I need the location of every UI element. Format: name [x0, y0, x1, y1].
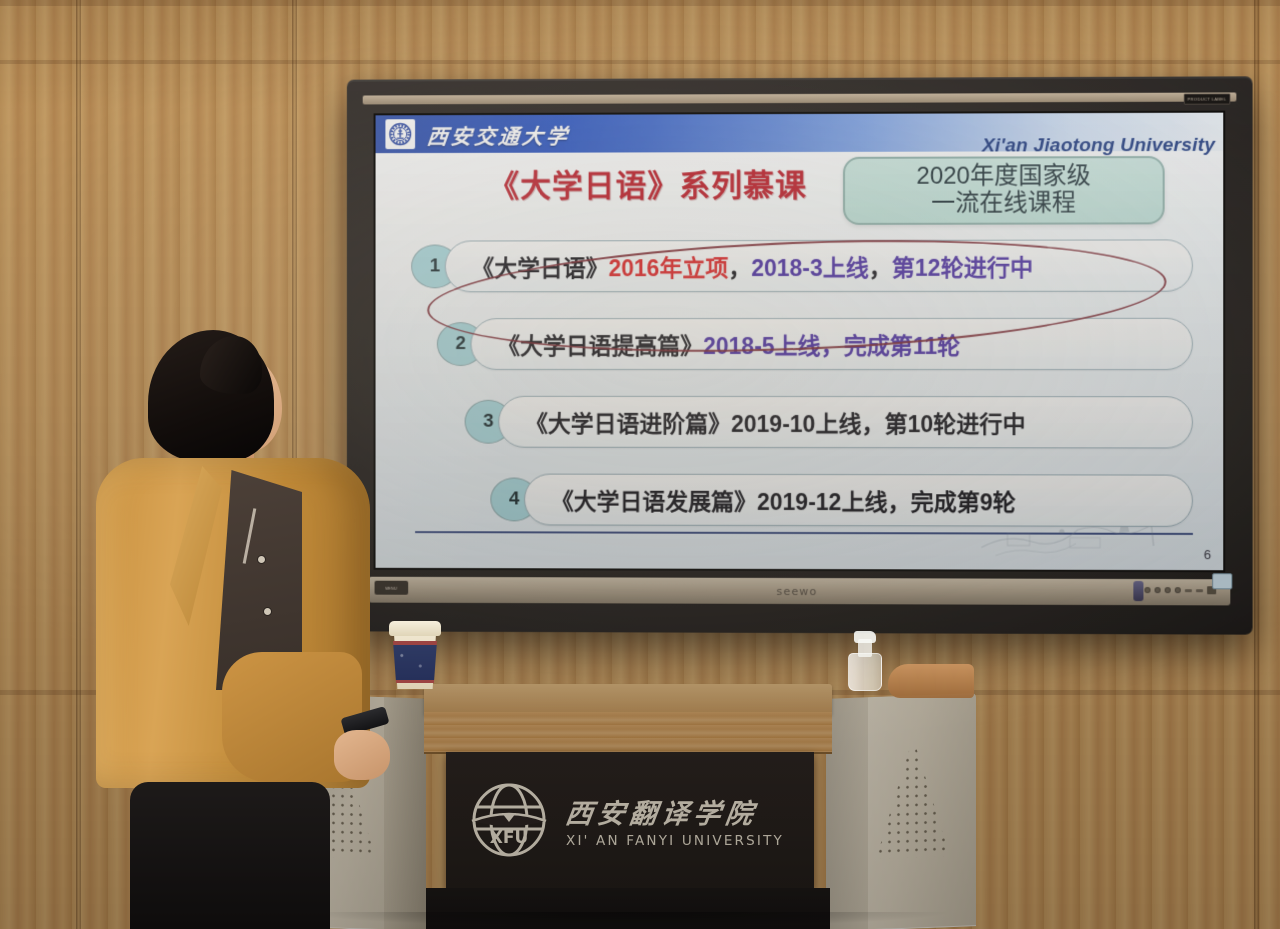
presentation-slide: 西安交通大学 Xi'an Jiaotong University 《大学日语》系…: [376, 113, 1224, 571]
plaque-name-en: XI' AN FANYI UNIVERSITY: [566, 833, 784, 849]
banner-university-en: Xi'an Jiaotong University: [982, 135, 1215, 158]
list-item-text: 《大学日语提高篇》2018-5上线，完成第11轮: [497, 327, 960, 361]
seg: 完成第11轮: [844, 333, 961, 359]
callout-box: 2020年度国家级 一流在线课程: [843, 156, 1165, 225]
board-bezel-bar: MENU seewo: [369, 577, 1231, 606]
interactive-whiteboard[interactable]: PRODUCT LABEL: [347, 76, 1253, 634]
list-item: 2 《大学日语提高篇》2018-5上线，完成第11轮: [376, 314, 1224, 392]
plaque-name-cn: 西安翻译学院: [563, 792, 786, 831]
presenter-legs: [130, 782, 330, 929]
seg: 《大学日语提高篇》: [497, 333, 703, 359]
lectern-right-wing: [826, 693, 976, 929]
seg: 第12轮进行中: [892, 255, 1033, 281]
bezel-power-knob[interactable]: [1133, 581, 1143, 601]
callout-line-1: 2020年度国家级: [916, 163, 1090, 190]
lectern-plaque: XFU 西安翻译学院 XI' AN FANYI UNIVERSITY: [446, 752, 814, 888]
callout-line-2: 一流在线课程: [931, 190, 1076, 217]
display-brand-label: seewo: [777, 584, 818, 597]
desk-item: [888, 664, 974, 698]
port-slot[interactable]: [1185, 589, 1192, 592]
wall-band: [0, 0, 1280, 6]
sanitizer-bottle: [848, 653, 882, 691]
plaque-text-block: 西安翻译学院 XI' AN FANYI UNIVERSITY: [566, 792, 784, 849]
slide-page-number: 6: [1204, 547, 1211, 562]
banner-university-cn: 西安交通大学: [425, 121, 571, 151]
coat-button: [258, 556, 265, 563]
port-dot[interactable]: [1155, 587, 1161, 593]
port-slot[interactable]: [1196, 589, 1203, 592]
xjtu-gear-logo-icon: [385, 119, 415, 149]
list-item-pill: 《大学日语提高篇》2018-5上线，完成第11轮: [471, 318, 1193, 370]
xfu-logo-text: XFU: [490, 828, 529, 848]
board-label-sticker: PRODUCT LABEL: [1184, 93, 1230, 104]
coat-button: [264, 608, 271, 615]
speaker-grille: [876, 736, 950, 859]
seg: ，: [728, 255, 751, 281]
list-item: 3 《大学日语进阶篇》2019-10上线，第10轮进行中: [376, 392, 1224, 471]
port-dot[interactable]: [1144, 587, 1150, 593]
seg: 2018-3上线: [751, 255, 869, 281]
seg: ，: [821, 333, 844, 359]
port-dot[interactable]: [1165, 587, 1171, 593]
lecture-room-scene: PRODUCT LABEL: [0, 0, 1280, 929]
bezel-ports[interactable]: [1144, 586, 1216, 594]
wing-facet: [826, 697, 868, 929]
seg: 2018-5上线: [703, 333, 820, 359]
wall-band: [0, 60, 1280, 64]
list-item-text: 《大学日语发展篇》2019-12上线，完成第9轮: [551, 483, 1016, 518]
board-sticker-text: PRODUCT LABEL: [1188, 96, 1227, 101]
lectern-desktop: [424, 684, 832, 714]
lectern-wood-rail: [424, 712, 832, 754]
bezel-corner-plate: [1212, 573, 1232, 589]
list-item-text: 《大学日语进阶篇》2019-10上线，第10轮进行中: [525, 405, 1026, 439]
presenter: [96, 330, 396, 929]
sanitizer-pump-head[interactable]: [854, 631, 876, 643]
list-item-pill: 《大学日语进阶篇》2019-10上线，第10轮进行中: [498, 396, 1193, 449]
seg: 《大学日语》: [472, 255, 609, 281]
board-screen[interactable]: 西安交通大学 Xi'an Jiaotong University 《大学日语》系…: [376, 113, 1224, 571]
wall-seam: [1254, 0, 1259, 929]
seg: ，: [869, 255, 892, 281]
list-item-pill: 《大学日语》2016年立项，2018-3上线，第12轮进行中: [445, 239, 1193, 292]
port-dot[interactable]: [1175, 587, 1181, 593]
xfu-globe-logo-icon: XFU: [466, 777, 552, 863]
course-list: 1 《大学日语》2016年立项，2018-3上线，第12轮进行中 2 《大学日语…: [376, 235, 1224, 549]
list-item: 1 《大学日语》2016年立项，2018-3上线，第12轮进行中: [376, 235, 1224, 314]
slide-title: 《大学日语》系列慕课: [429, 160, 867, 206]
seg: 2016年立项: [609, 255, 729, 281]
board-top-strip: [363, 92, 1237, 104]
list-item-text: 《大学日语》2016年立项，2018-3上线，第12轮进行中: [472, 249, 1033, 284]
hand-sanitizer: [848, 629, 882, 691]
list-item-pill: 《大学日语发展篇》2019-12上线，完成第9轮: [524, 474, 1193, 527]
presenter-hand: [334, 730, 390, 780]
